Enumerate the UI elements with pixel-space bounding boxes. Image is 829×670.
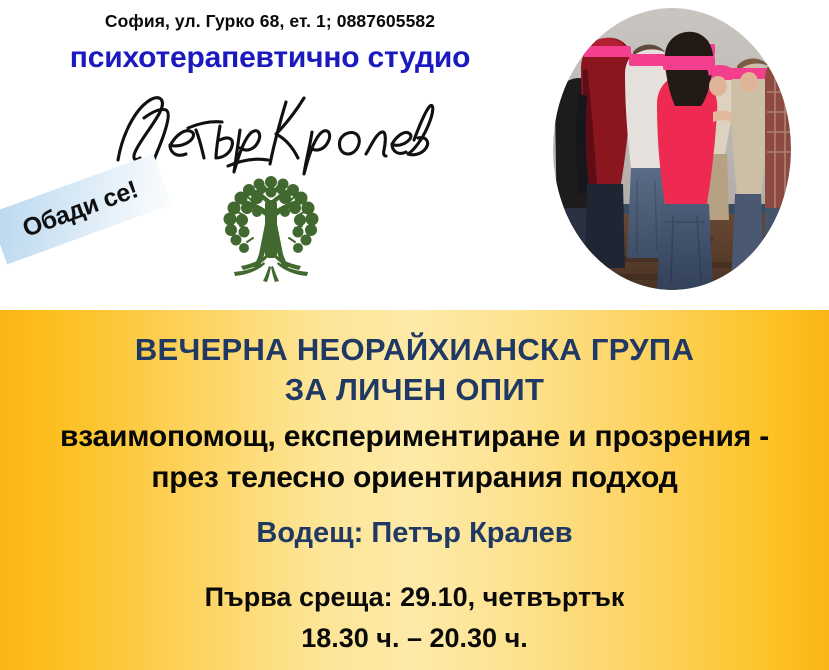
first-meeting-date: Първа среща: 29.10, четвъртък <box>0 582 829 613</box>
first-meeting-time: 18.30 ч. – 20.30 ч. <box>0 623 829 654</box>
group-title-line1: ВЕЧЕРНА НЕОРАЙХИАНСКА ГРУПА <box>0 332 829 368</box>
group-description-line2: през телесно ориентирания подход <box>0 461 829 495</box>
tree-of-life-icon <box>213 172 329 288</box>
studio-name: психотерапевтично студио <box>0 41 540 75</box>
group-description-line1: взаимопомощ, експериментиране и прозрени… <box>0 420 829 454</box>
poster: София, ул. Гурко 68, ет. 1; 0887605582 п… <box>0 0 829 670</box>
announcement-banner: ВЕЧЕРНА НЕОРАЙХИАНСКА ГРУПА ЗА ЛИЧЕН ОПИ… <box>0 310 829 670</box>
call-us-badge[interactable]: Обади се! <box>0 154 172 265</box>
group-leader: Водещ: Петър Кралев <box>0 517 829 550</box>
signature-petar-kralev <box>108 88 438 176</box>
group-title-line2: ЗА ЛИЧЕН ОПИТ <box>0 372 829 408</box>
group-workshop-photo <box>553 8 791 290</box>
address-line: София, ул. Гурко 68, ет. 1; 0887605582 <box>0 11 540 32</box>
header-section: София, ул. Гурко 68, ет. 1; 0887605582 п… <box>0 0 829 310</box>
call-us-badge-label: Обади се! <box>19 175 142 243</box>
